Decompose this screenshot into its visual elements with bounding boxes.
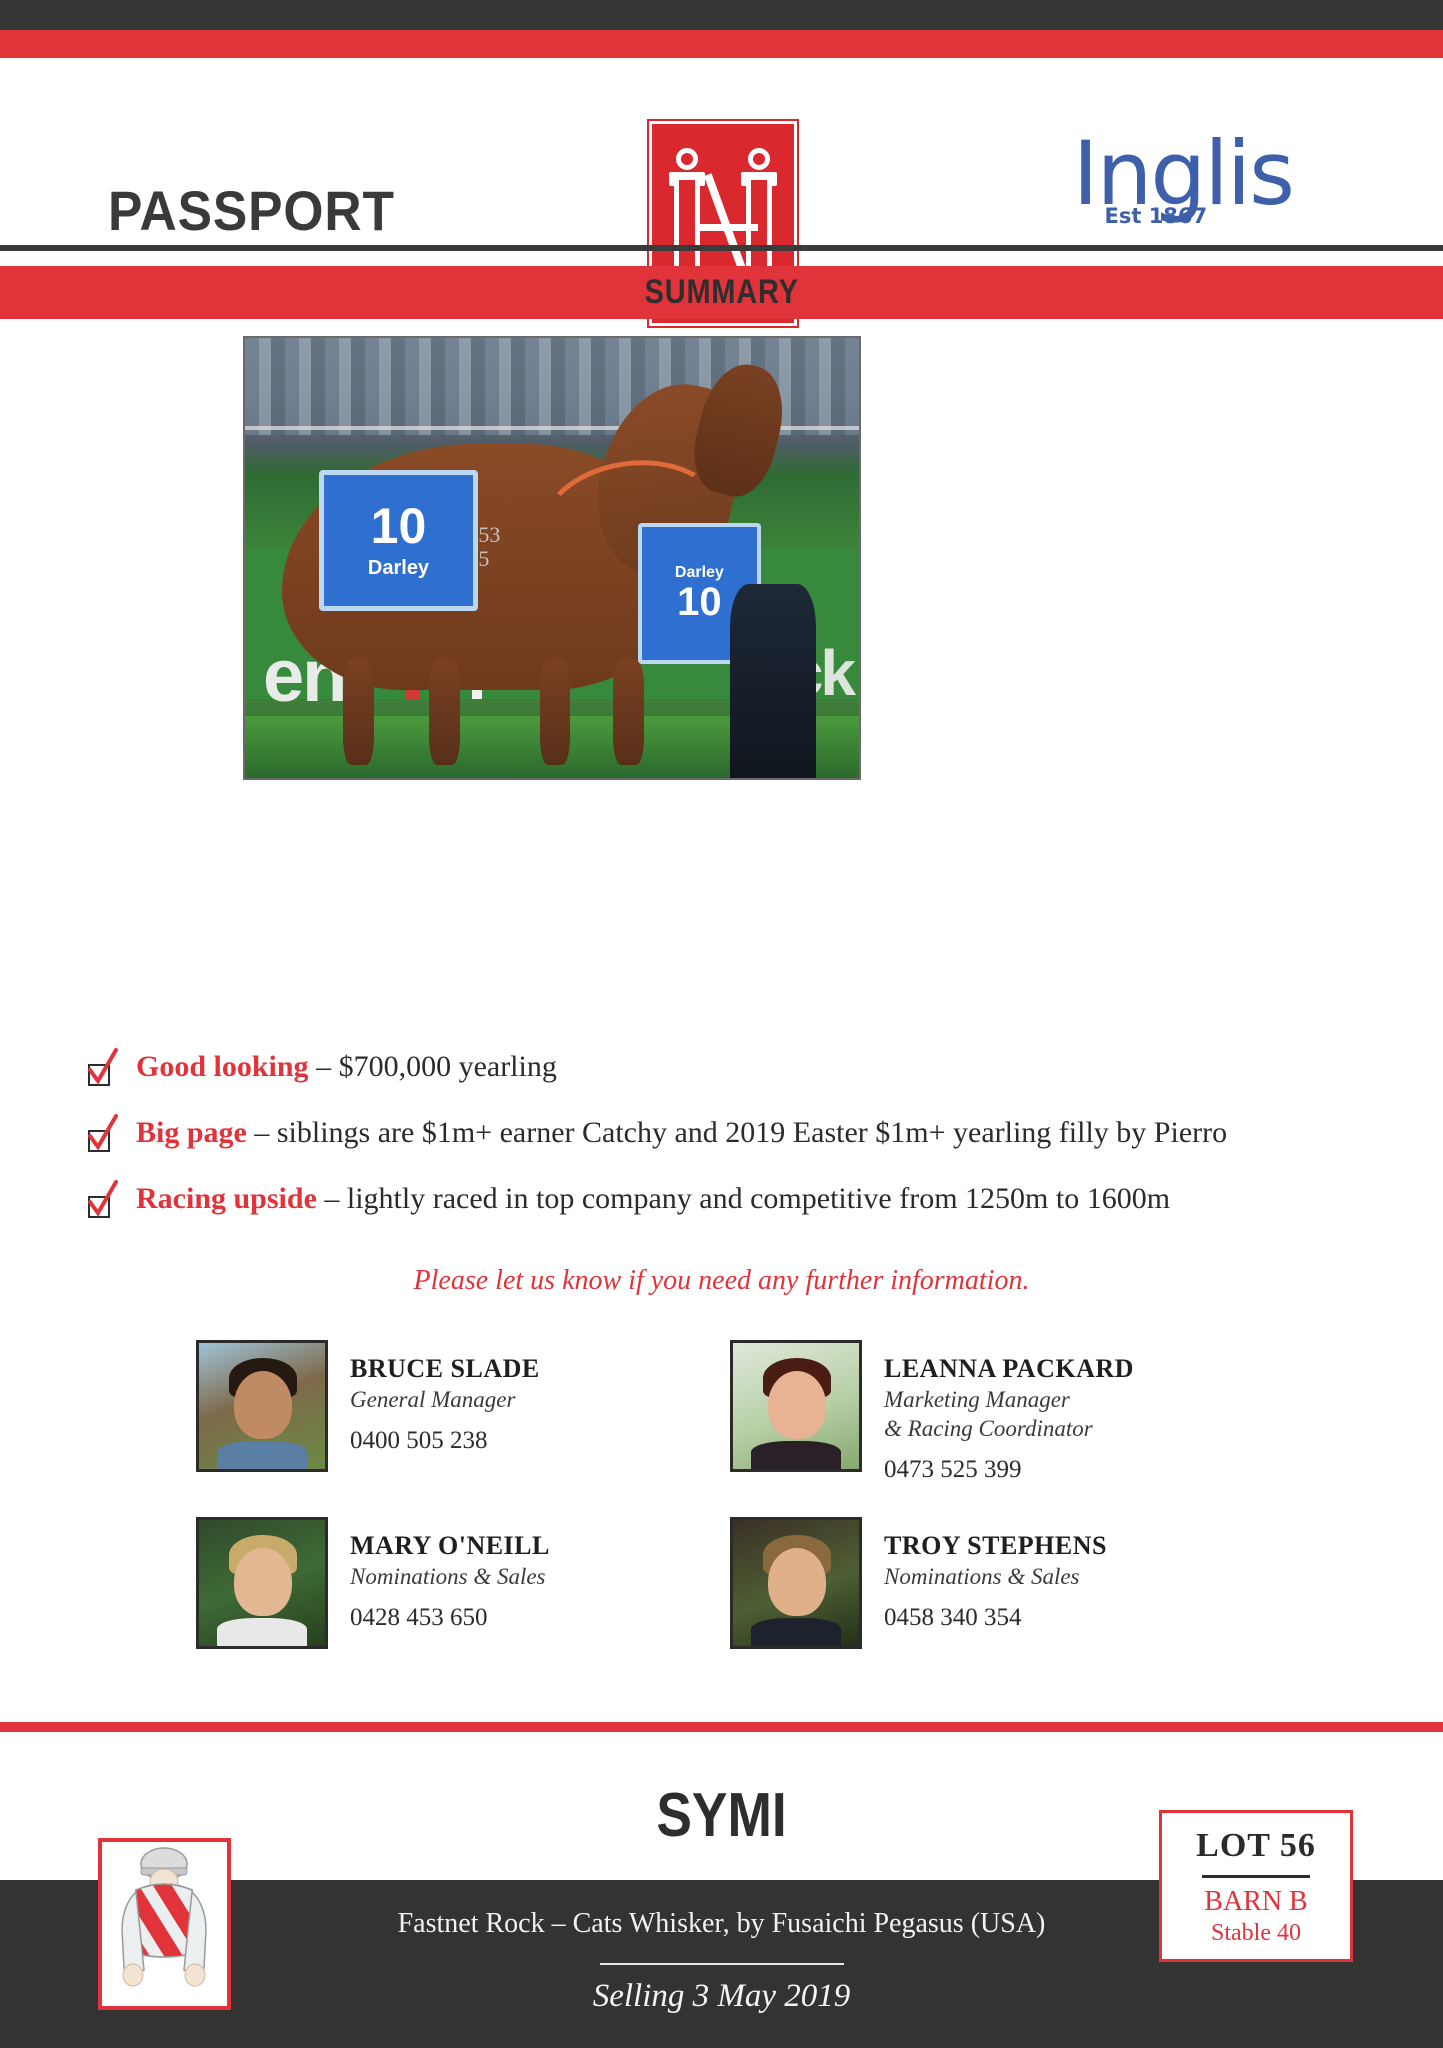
horse-leg [343, 659, 374, 765]
lot-divider [1202, 1875, 1310, 1878]
newgate-finial-left-icon [676, 148, 698, 170]
saddlecloth: 10 Darley [319, 470, 479, 611]
highlight-rest: – lightly raced in top company and compe… [317, 1182, 1170, 1215]
list-item: Big page – siblings are $1m+ earner Catc… [86, 1116, 1366, 1154]
horse-handler [730, 584, 816, 778]
contact-info: TROY STEPHENS Nominations & Sales 0458 3… [884, 1517, 1107, 1632]
checkmark-icon [86, 1186, 120, 1220]
contact-card: BRUCE SLADE General Manager 0400 505 238 [196, 1340, 686, 1495]
avatar [730, 1340, 862, 1472]
checkmark-icon [86, 1120, 120, 1154]
contact-role: General Manager [350, 1386, 540, 1415]
horse-brand-mark: 535 [478, 523, 500, 571]
contact-note: Please let us know if you need any furth… [0, 1265, 1443, 1297]
list-item: Good looking – $700,000 yearling [86, 1050, 1366, 1088]
highlight-text: Racing upside – lightly raced in top com… [136, 1182, 1170, 1215]
contact-info: MARY O'NEILL Nominations & Sales 0428 45… [350, 1517, 550, 1632]
contact-name: MARY O'NEILL [350, 1531, 550, 1561]
lot-number: LOT 56 [1162, 1827, 1350, 1865]
highlight-lead: Good looking [136, 1050, 309, 1083]
horse-photo: en ck 535 10 Darley Darley 10 [243, 336, 861, 780]
list-item: Racing upside – lightly raced in top com… [86, 1182, 1366, 1220]
contact-card: MARY O'NEILL Nominations & Sales 0428 45… [196, 1517, 686, 1672]
top-dark-bar [0, 0, 1443, 30]
selling-date: Selling 3 May 2019 [0, 1978, 1443, 2015]
highlight-lead: Racing upside [136, 1182, 317, 1215]
contact-role: Nominations & Sales [884, 1563, 1107, 1592]
stable-label: Stable 40 [1162, 1920, 1350, 1947]
saddlecloth-number: 10 [371, 501, 427, 551]
passport-page: PASSPORT NEWGATE Inglis Est 1867 SUMMARY [0, 0, 1443, 2048]
highlight-text: Good looking – $700,000 yearling [136, 1050, 557, 1083]
contact-phone[interactable]: 0473 525 399 [884, 1456, 1134, 1484]
masthead: PASSPORT NEWGATE Inglis Est 1867 [0, 58, 1443, 256]
avatar [196, 1340, 328, 1472]
contact-name: LEANNA PACKARD [884, 1354, 1134, 1384]
masthead-divider [0, 245, 1443, 251]
avatar [196, 1517, 328, 1649]
highlight-lead: Big page [136, 1116, 247, 1149]
horse-leg [540, 659, 571, 765]
summary-label: SUMMARY [644, 273, 798, 312]
contact-info: LEANNA PACKARD Marketing Manager & Racin… [884, 1340, 1134, 1484]
page-title: PASSPORT [108, 178, 395, 243]
horse-leg [613, 659, 644, 765]
checkmark-icon [86, 1054, 120, 1088]
contact-phone[interactable]: 0400 505 238 [350, 1427, 540, 1455]
contact-column-right: LEANNA PACKARD Marketing Manager & Racin… [730, 1340, 1220, 1694]
contact-info: BRUCE SLADE General Manager 0400 505 238 [350, 1340, 540, 1455]
highlight-rest: – $700,000 yearling [309, 1050, 557, 1083]
contact-card: LEANNA PACKARD Marketing Manager & Racin… [730, 1340, 1220, 1495]
secondary-saddlecloth-number: 10 [677, 582, 722, 622]
contact-card: TROY STEPHENS Nominations & Sales 0458 3… [730, 1517, 1220, 1672]
contact-phone[interactable]: 0458 340 354 [884, 1604, 1107, 1632]
horse-name: SYMI [101, 1780, 1342, 1851]
lot-box: LOT 56 BARN B Stable 40 [1159, 1810, 1353, 1962]
highlight-text: Big page – siblings are $1m+ earner Catc… [136, 1116, 1227, 1149]
contact-role: Marketing Manager & Racing Coordinator [884, 1386, 1134, 1444]
pedigree-divider [600, 1963, 844, 1965]
contact-column-left: BRUCE SLADE General Manager 0400 505 238… [196, 1340, 686, 1694]
contact-phone[interactable]: 0428 453 650 [350, 1604, 550, 1632]
barn-label: BARN B [1162, 1886, 1350, 1918]
top-red-bar [0, 30, 1443, 58]
contact-role: Nominations & Sales [350, 1563, 550, 1592]
contact-name: TROY STEPHENS [884, 1531, 1107, 1561]
contact-name: BRUCE SLADE [350, 1354, 540, 1384]
highlight-rest: – siblings are $1m+ earner Catchy and 20… [247, 1116, 1227, 1149]
footer-red-rule [0, 1722, 1443, 1732]
contact-grid: BRUCE SLADE General Manager 0400 505 238… [196, 1340, 1256, 1694]
avatar [730, 1517, 862, 1649]
summary-band: SUMMARY [0, 266, 1443, 319]
saddlecloth-brand: Darley [368, 557, 429, 580]
inglis-logo: Inglis Est 1867 [1073, 130, 1293, 228]
highlights-list: Good looking – $700,000 yearling Big pag… [86, 1050, 1366, 1248]
newgate-finial-right-icon [748, 148, 770, 170]
horse-leg [429, 659, 460, 765]
